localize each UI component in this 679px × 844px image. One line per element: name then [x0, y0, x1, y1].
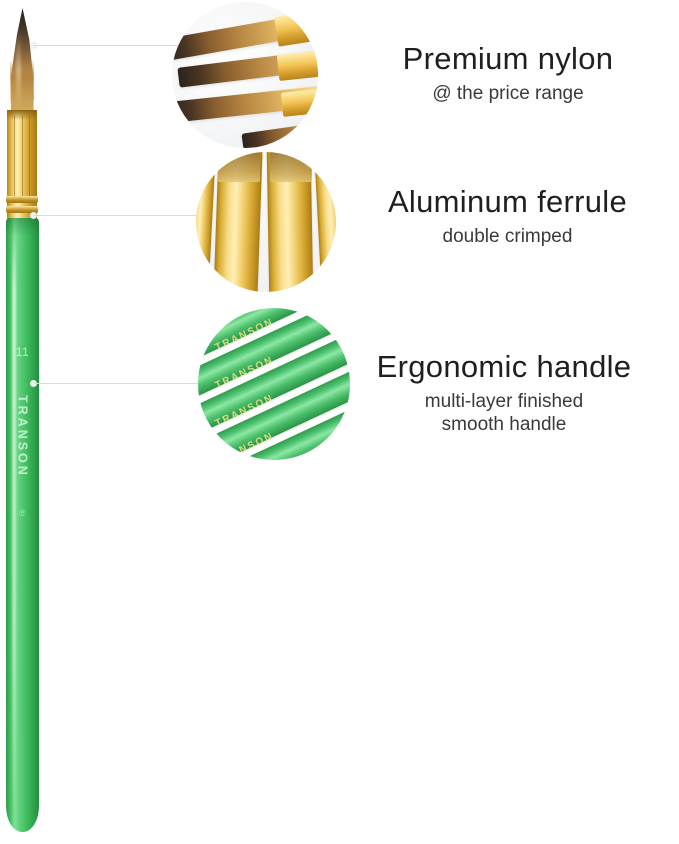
ferrule-seam-line — [29, 116, 30, 196]
callout-leader-line-1 — [34, 45, 184, 46]
handle-gloss-highlight — [12, 230, 16, 810]
ferrule-crimp-detail — [320, 152, 336, 182]
inset-circle-ferrule — [196, 152, 336, 292]
inset-circle-brush-tips — [172, 2, 318, 148]
ferrule-sample — [281, 87, 318, 117]
handle-brand-label: TRANSON — [16, 395, 30, 478]
feature-title: Aluminum ferrule — [340, 185, 675, 220]
ferrule-seam-line — [22, 116, 23, 196]
feature-subtitle-line-2: smooth handle — [330, 413, 678, 437]
ferrule-crimp-detail — [218, 152, 260, 182]
brush-handle — [6, 218, 39, 832]
feature-subtitle-line-1: multi-layer finished — [330, 390, 678, 414]
callout-leader-line-3 — [34, 383, 212, 384]
bristle-highlight — [16, 34, 21, 108]
callout-leader-line-2 — [34, 215, 206, 216]
feature-title: Ergonomic handle — [330, 350, 678, 385]
ferrule-seam-line — [14, 116, 15, 196]
feature-title: Premium nylon — [348, 42, 668, 77]
registered-trademark-mark: ® — [6, 508, 39, 518]
brush-size-label: 11 — [6, 345, 39, 359]
feature-block-premium-nylon: Premium nylon @ the price range — [348, 42, 668, 105]
handle-top-shading — [6, 218, 39, 236]
feature-block-ergonomic-handle: Ergonomic handle multi-layer finished sm… — [330, 350, 678, 437]
handle-brand-text: TRANSON — [6, 395, 39, 515]
ferrule-crimp-ring — [6, 196, 38, 203]
feature-subtitle: double crimped — [340, 225, 675, 249]
feature-subtitle: @ the price range — [348, 82, 668, 106]
infographic-canvas: 11 TRANSON ® TRANSON TR — [0, 0, 679, 844]
feature-block-aluminum-ferrule: Aluminum ferrule double crimped — [340, 185, 675, 248]
ferrule-sample — [277, 49, 318, 81]
ferrule-crimp-detail — [270, 152, 312, 182]
inset-circle-handle: TRANSON TRANSON TRANSON TRANSON — [198, 308, 350, 460]
paintbrush-illustration: 11 TRANSON ® — [0, 0, 70, 844]
